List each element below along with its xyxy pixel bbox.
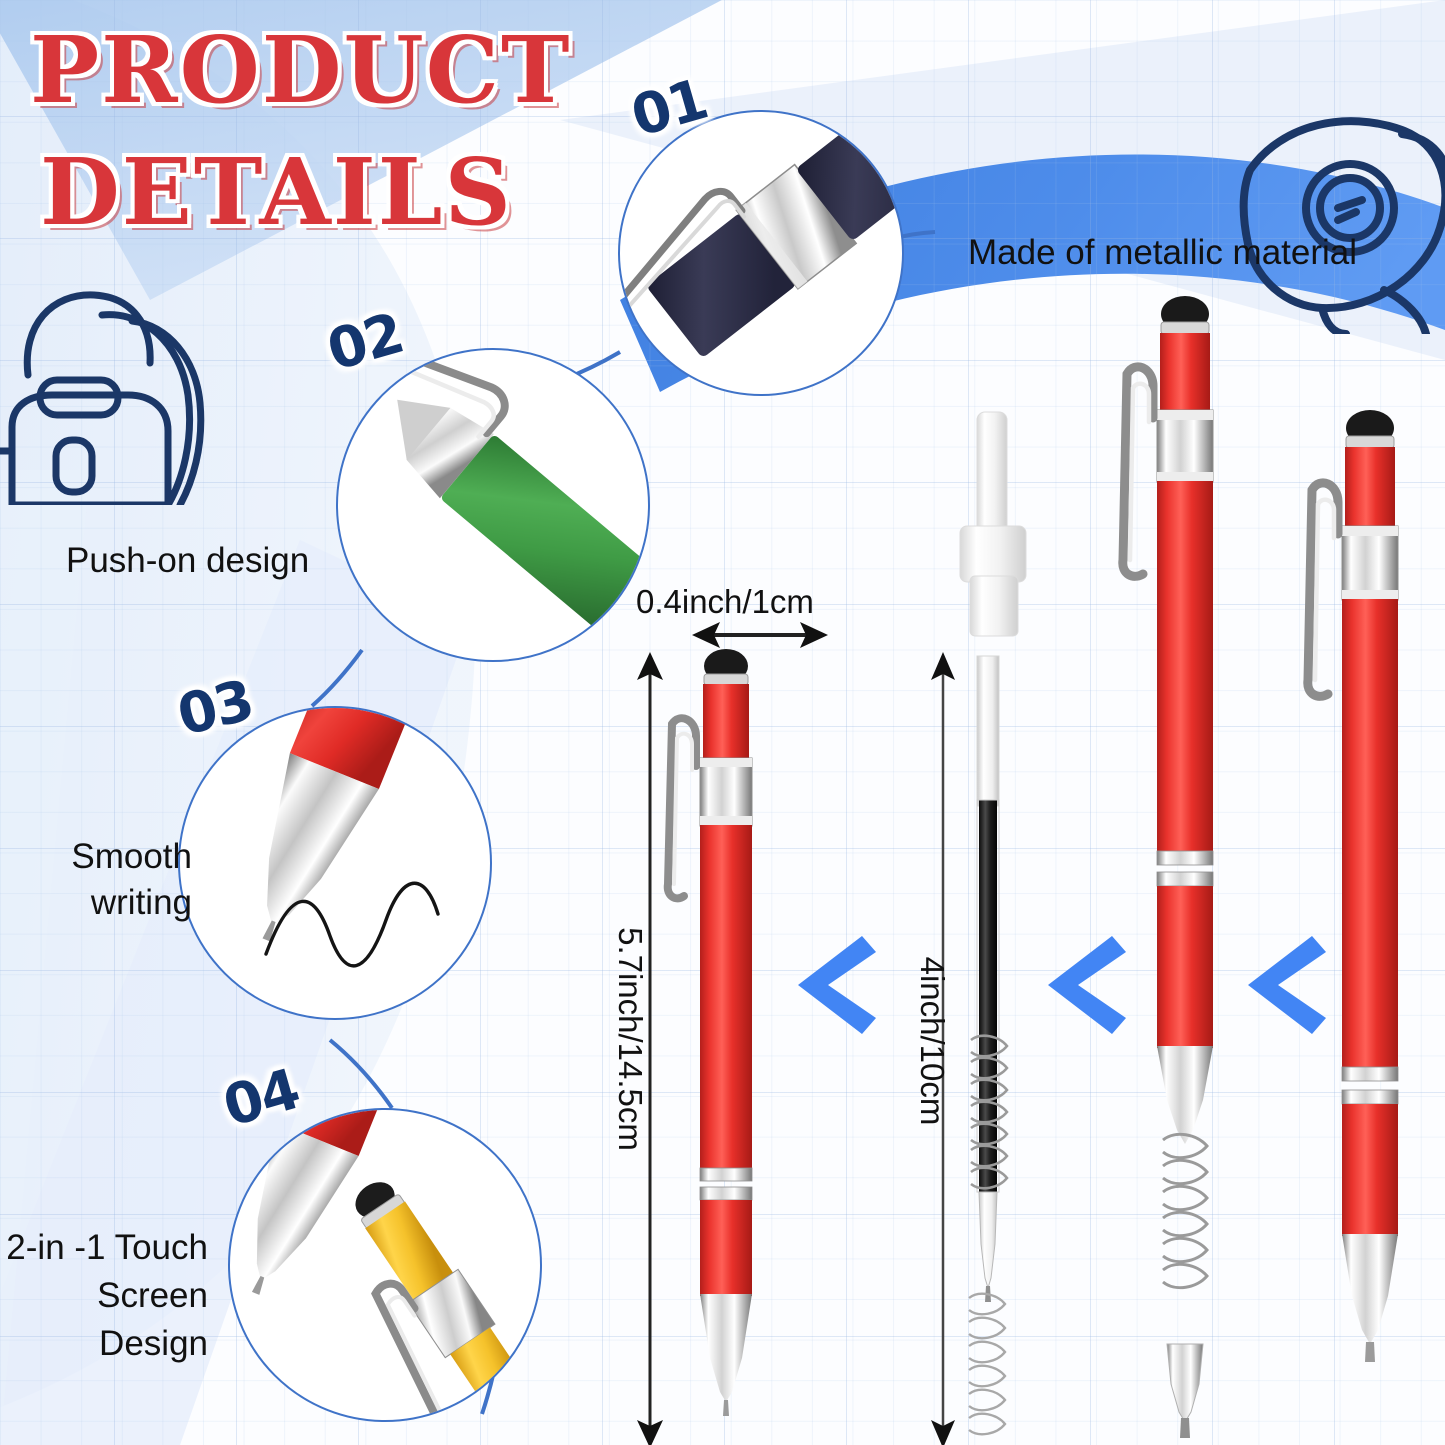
feature-label-smooth-line1: Smooth (14, 834, 192, 880)
barrel-red-component (1105, 288, 1265, 1445)
callout-circle-02 (336, 348, 650, 662)
plunger-component (940, 408, 1050, 638)
chevron-arrow-3 (1240, 930, 1330, 1040)
infographic-canvas: PRODUCT DETAILS (0, 0, 1445, 1445)
page-title-line2: DETAILS (40, 138, 513, 246)
chevron-arrow-1 (790, 930, 880, 1040)
backpack-doodle (0, 255, 222, 505)
callout-circle-04 (228, 1108, 542, 1422)
feature-label-touch-line2: Screen (0, 1272, 208, 1320)
callout-circle-01 (618, 110, 904, 396)
assembled-pen-red (650, 640, 800, 1440)
refill-component (935, 648, 1045, 1445)
callout-circle-03 (178, 706, 492, 1020)
chevron-arrow-2 (1040, 930, 1130, 1040)
feature-label-touch-line3: Design (0, 1320, 208, 1368)
page-title-line1: PRODUCT (30, 16, 571, 124)
feature-label-touch-line1: 2-in -1 Touch (0, 1224, 208, 1272)
feature-label-push-on: Push-on design (66, 541, 309, 581)
dimension-label-width: 0.4inch/1cm (636, 583, 814, 621)
feature-label-metallic: Made of metallic material (968, 233, 1357, 273)
dimension-label-pen-length: 5.7inch/14.5cm (611, 909, 649, 1169)
upper-barrel-red-component (1290, 400, 1445, 1445)
feature-label-smooth-line2: writing (14, 880, 192, 926)
